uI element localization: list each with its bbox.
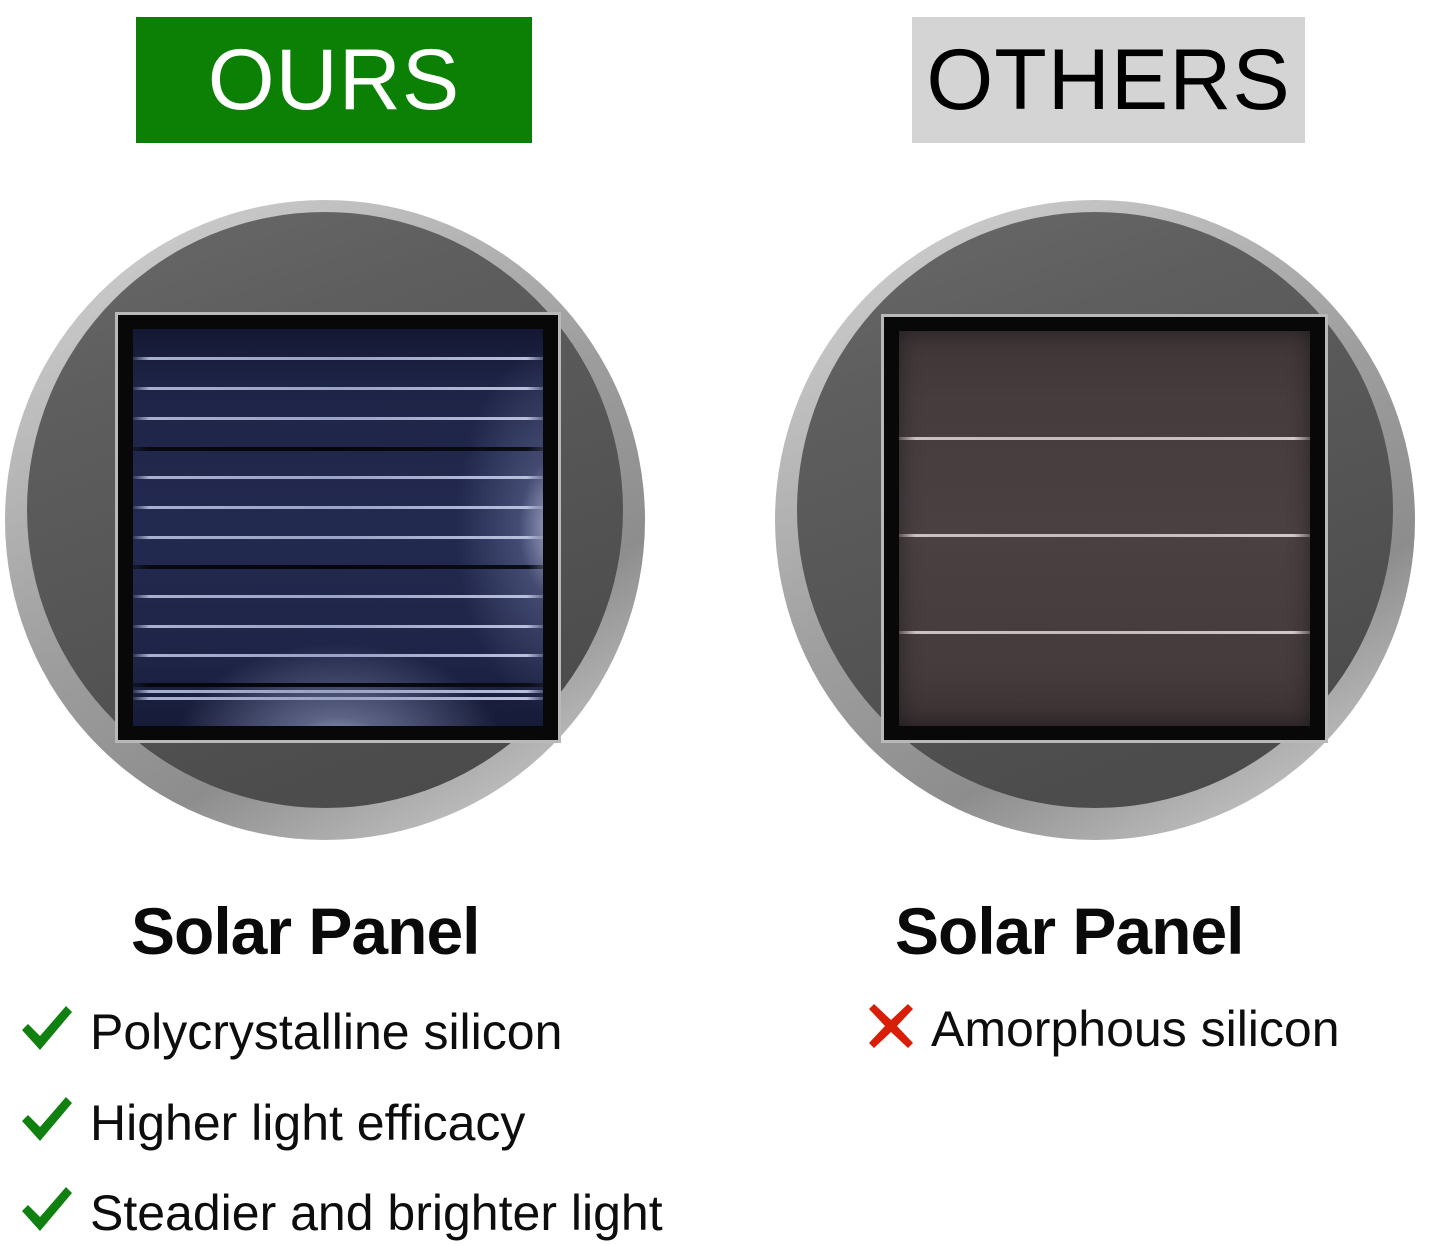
cross-icon bbox=[865, 1000, 917, 1057]
cell-divider-line bbox=[133, 565, 543, 569]
busbar-line bbox=[133, 506, 543, 509]
lamp-disc-others bbox=[775, 200, 1415, 840]
solar-panel-ours-inner bbox=[133, 329, 543, 726]
busbar-line bbox=[133, 654, 543, 657]
cell-divider-line bbox=[133, 683, 543, 687]
busbar-line bbox=[133, 595, 543, 598]
badge-others-label: OTHERS bbox=[926, 37, 1290, 123]
feature-label: Amorphous silicon bbox=[931, 1004, 1340, 1054]
busbar-line bbox=[133, 387, 543, 390]
caption-solar-panel-ours: Solar Panel bbox=[131, 898, 480, 964]
busbar-line bbox=[899, 534, 1310, 537]
feature-label: Higher light efficacy bbox=[90, 1098, 525, 1148]
busbar-line bbox=[133, 357, 543, 360]
busbar-line bbox=[133, 625, 543, 628]
solar-cell-polycrystalline bbox=[133, 329, 543, 726]
feature-item: Amorphous silicon bbox=[865, 1000, 1340, 1057]
check-icon bbox=[18, 1091, 76, 1154]
badge-ours: OURS bbox=[136, 17, 532, 143]
check-icon bbox=[18, 1000, 76, 1063]
feature-item: Higher light efficacy bbox=[18, 1091, 525, 1154]
busbar-line bbox=[133, 697, 543, 700]
busbar-line bbox=[133, 476, 543, 479]
solar-panel-ours bbox=[118, 315, 558, 740]
busbar-line bbox=[899, 437, 1310, 440]
solar-panel-others bbox=[884, 317, 1325, 740]
badge-others: OTHERS bbox=[912, 17, 1305, 143]
check-icon bbox=[18, 1181, 76, 1244]
caption-solar-panel-others: Solar Panel bbox=[895, 898, 1244, 964]
cell-divider-line bbox=[133, 447, 543, 451]
busbar-line bbox=[899, 631, 1310, 634]
lamp-disc-ours bbox=[5, 200, 645, 840]
solar-cell-amorphous bbox=[899, 331, 1310, 726]
busbar-line bbox=[133, 417, 543, 420]
feature-label: Steadier and brighter light bbox=[90, 1188, 663, 1238]
badge-ours-label: OURS bbox=[208, 37, 460, 123]
busbar-line bbox=[133, 690, 543, 693]
feature-label: Polycrystalline silicon bbox=[90, 1007, 562, 1057]
feature-item: Polycrystalline silicon bbox=[18, 1000, 562, 1063]
busbar-line bbox=[133, 536, 543, 539]
solar-panel-others-inner bbox=[899, 331, 1310, 726]
feature-item: Steadier and brighter light bbox=[18, 1181, 663, 1244]
